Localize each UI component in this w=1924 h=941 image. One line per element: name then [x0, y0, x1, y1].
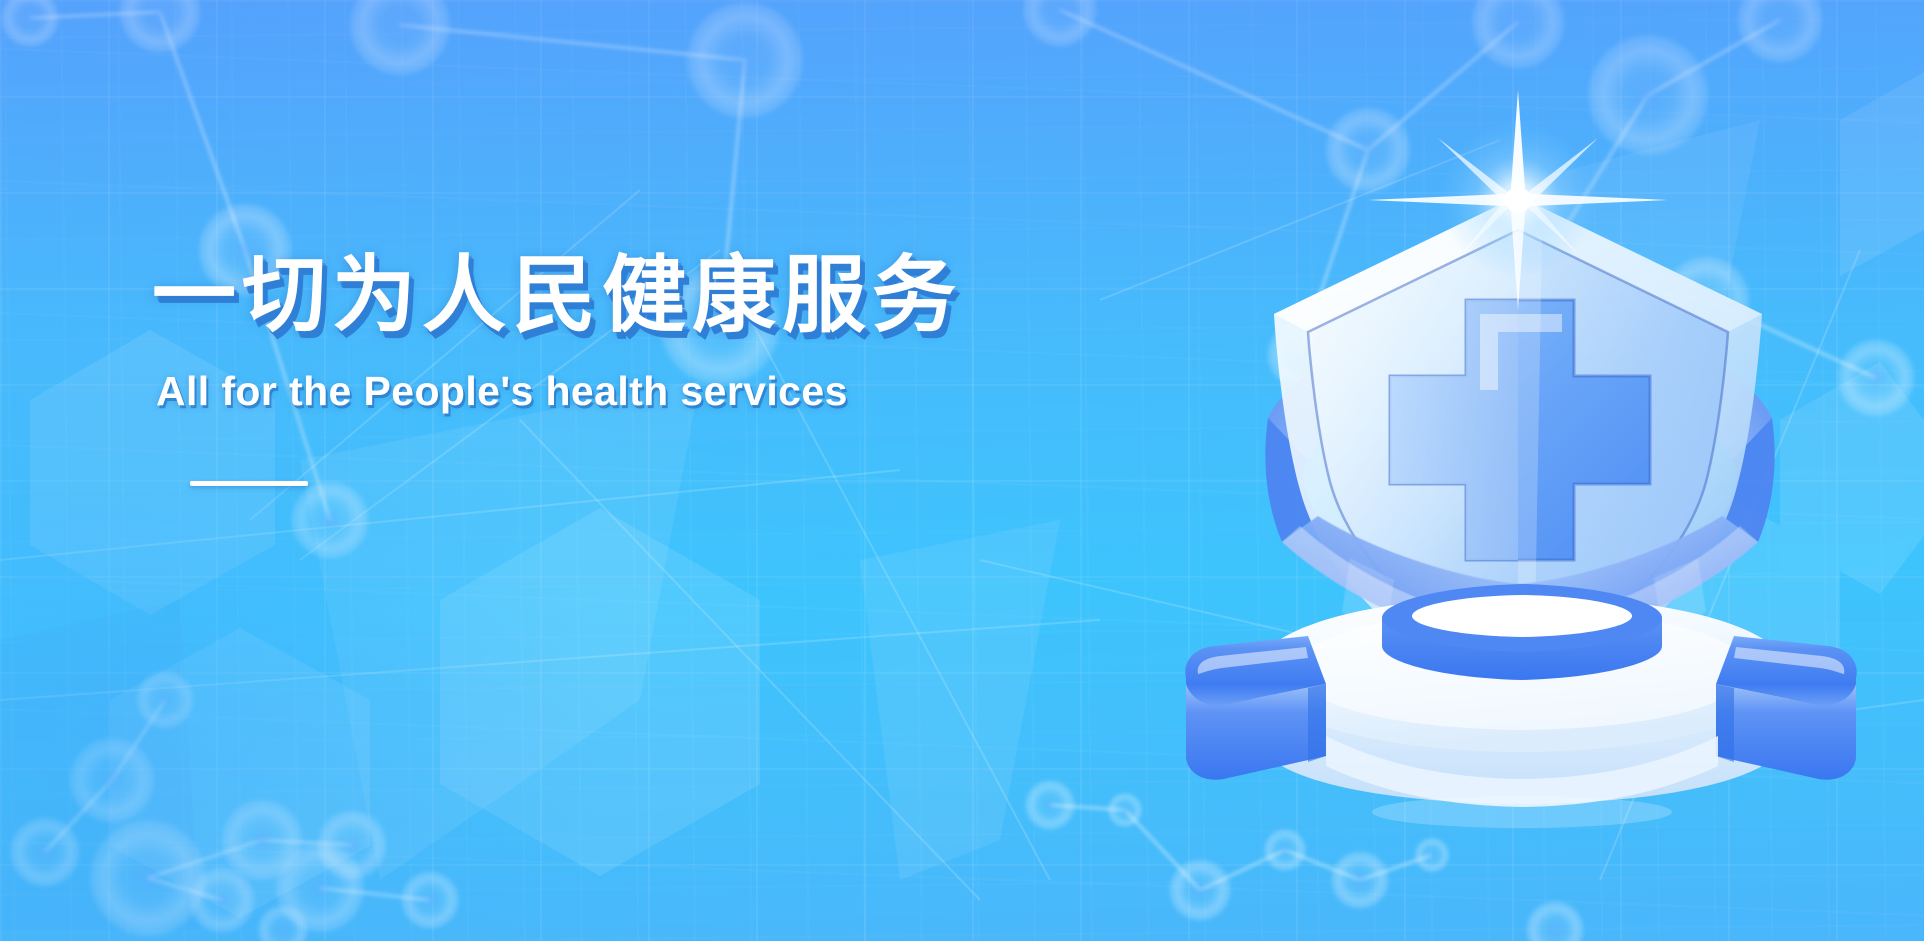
page-title: 一切为人民健康服务: [152, 248, 1112, 342]
health-banner: 一切为人民健康服务 All for the People's health se…: [0, 0, 1924, 941]
banner-text-block: 一切为人民健康服务 All for the People's health se…: [152, 248, 1112, 486]
molecule-node: [1736, 0, 1824, 64]
molecule-node: [0, 0, 60, 48]
molecule-node: [188, 866, 256, 934]
molecule-node: [1263, 828, 1307, 872]
molecule-node: [1330, 850, 1390, 910]
molecule-node: [685, 0, 805, 120]
molecule-node: [1024, 779, 1076, 831]
molecule-node: [1525, 900, 1585, 941]
molecule-node: [1022, 0, 1098, 48]
molecule-node: [118, 0, 202, 54]
molecule-node: [348, 0, 452, 77]
molecule-node: [400, 870, 460, 930]
molecule-node: [1414, 837, 1450, 873]
hero-illustration: [1150, 118, 1890, 818]
molecule-node: [1168, 858, 1232, 922]
molecule-node: [1107, 792, 1143, 828]
page-subtitle: All for the People's health services: [156, 368, 1112, 415]
pedestal-band-right: [1716, 636, 1857, 780]
floating-pedestal: [1185, 584, 1857, 828]
molecule-node: [1470, 0, 1566, 70]
shield-pedestal-graphic: [1150, 118, 1890, 818]
molecule-node: [68, 736, 156, 824]
molecule-node: [88, 818, 208, 938]
molecule-node: [290, 480, 370, 560]
molecule-node: [274, 842, 366, 934]
decorative-rule: [190, 481, 308, 486]
molecule-node: [135, 670, 195, 730]
molecule-node: [9, 816, 81, 888]
pedestal-band-left: [1185, 636, 1326, 780]
